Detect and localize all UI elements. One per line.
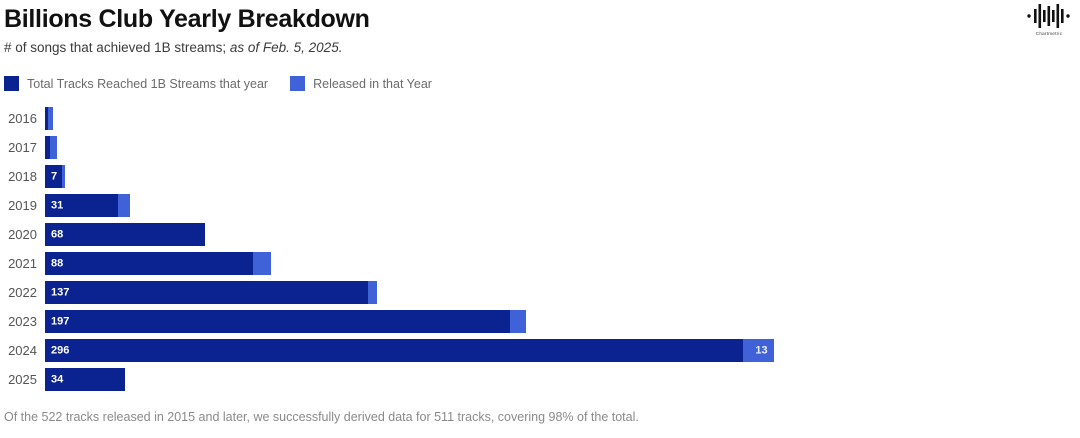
chart-row: 202188 <box>0 249 1080 278</box>
legend-label-total: Total Tracks Reached 1B Streams that yea… <box>27 77 268 91</box>
chart-row: 202068 <box>0 220 1080 249</box>
bar-segment-released[interactable] <box>118 194 130 217</box>
bar-track: 34 <box>45 365 1080 394</box>
chart-row: 201931 <box>0 191 1080 220</box>
bar-segment-total[interactable]: 197 <box>45 310 510 333</box>
legend-label-released: Released in that Year <box>313 77 432 91</box>
bar-value-label: 88 <box>51 258 63 269</box>
bar-value-label: 7 <box>51 171 57 182</box>
bar-value-label: 68 <box>51 229 63 240</box>
stacked-bar[interactable]: 68 <box>45 223 205 246</box>
stacked-bar[interactable]: 34 <box>45 368 125 391</box>
chart-legend: Total Tracks Reached 1B Streams that yea… <box>4 76 454 91</box>
bar-chart: 2016201720187201931202068202188202213720… <box>0 104 1080 394</box>
stacked-bar[interactable]: 31 <box>45 194 130 217</box>
bar-segment-total[interactable]: 137 <box>45 281 368 304</box>
bar-value-label: 34 <box>51 374 63 385</box>
bar-segment-total[interactable]: 296 <box>45 339 743 362</box>
chart-row: 2017 <box>0 133 1080 162</box>
y-axis-tick-label: 2020 <box>0 227 45 242</box>
bar-segment-released[interactable] <box>368 281 377 304</box>
stacked-bar[interactable]: 137 <box>45 281 377 304</box>
chart-row: 2022137 <box>0 278 1080 307</box>
y-axis-tick-label: 2018 <box>0 169 45 184</box>
bar-value-label: 31 <box>51 200 63 211</box>
legend-item-released[interactable]: Released in that Year <box>290 76 432 91</box>
bar-released-value-label: 13 <box>755 345 767 356</box>
y-axis-tick-label: 2024 <box>0 343 45 358</box>
chart-row: 2023197 <box>0 307 1080 336</box>
stacked-bar[interactable] <box>45 136 57 159</box>
bar-value-label: 137 <box>51 287 69 298</box>
chart-row: 202429613 <box>0 336 1080 365</box>
y-axis-tick-label: 2017 <box>0 140 45 155</box>
bar-track <box>45 104 1080 133</box>
stacked-bar[interactable]: 88 <box>45 252 271 275</box>
y-axis-tick-label: 2022 <box>0 285 45 300</box>
bar-segment-total[interactable]: 88 <box>45 252 253 275</box>
bar-segment-released[interactable] <box>48 107 53 130</box>
legend-swatch-released <box>290 76 305 91</box>
bar-value-label: 197 <box>51 316 69 327</box>
bar-track: 197 <box>45 307 1080 336</box>
legend-swatch-total <box>4 76 19 91</box>
chart-row: 20187 <box>0 162 1080 191</box>
bar-segment-released[interactable]: 13 <box>743 339 774 362</box>
bar-track: 7 <box>45 162 1080 191</box>
chart-row: 202534 <box>0 365 1080 394</box>
bar-segment-released[interactable] <box>510 310 527 333</box>
y-axis-tick-label: 2019 <box>0 198 45 213</box>
chart-row: 2016 <box>0 104 1080 133</box>
bar-segment-released[interactable] <box>62 165 65 188</box>
chart-footnote: Of the 522 tracks released in 2015 and l… <box>4 410 639 424</box>
waveform-icon <box>1026 3 1072 29</box>
y-axis-tick-label: 2016 <box>0 111 45 126</box>
bar-track: 29613 <box>45 336 1080 365</box>
logo-wordmark: Chartmetric <box>1036 31 1063 36</box>
stacked-bar[interactable] <box>45 107 53 130</box>
bar-value-label: 296 <box>51 345 69 356</box>
bar-track: 88 <box>45 249 1080 278</box>
subtitle-plain-text: # of songs that achieved 1B streams; <box>4 40 230 55</box>
y-axis-tick-label: 2023 <box>0 314 45 329</box>
bar-segment-released[interactable] <box>50 136 57 159</box>
chart-header: Billions Club Yearly Breakdown # of song… <box>4 4 984 56</box>
page-title: Billions Club Yearly Breakdown <box>4 4 984 34</box>
bar-track: 137 <box>45 278 1080 307</box>
chart-subtitle: # of songs that achieved 1B streams; as … <box>4 40 984 56</box>
brand-logo: Chartmetric <box>1026 3 1072 36</box>
bar-segment-total[interactable]: 31 <box>45 194 118 217</box>
bar-segment-total[interactable]: 68 <box>45 223 205 246</box>
subtitle-emphasis-text: as of Feb. 5, 2025. <box>230 40 343 55</box>
bar-track <box>45 133 1080 162</box>
chart-page: Billions Club Yearly Breakdown # of song… <box>0 0 1080 438</box>
bar-segment-total[interactable]: 34 <box>45 368 125 391</box>
y-axis-tick-label: 2021 <box>0 256 45 271</box>
legend-item-total[interactable]: Total Tracks Reached 1B Streams that yea… <box>4 76 268 91</box>
stacked-bar[interactable]: 197 <box>45 310 526 333</box>
stacked-bar[interactable]: 29613 <box>45 339 774 362</box>
bar-segment-released[interactable] <box>253 252 272 275</box>
bar-track: 31 <box>45 191 1080 220</box>
stacked-bar[interactable]: 7 <box>45 165 65 188</box>
bar-segment-total[interactable]: 7 <box>45 165 62 188</box>
bar-track: 68 <box>45 220 1080 249</box>
y-axis-tick-label: 2025 <box>0 372 45 387</box>
